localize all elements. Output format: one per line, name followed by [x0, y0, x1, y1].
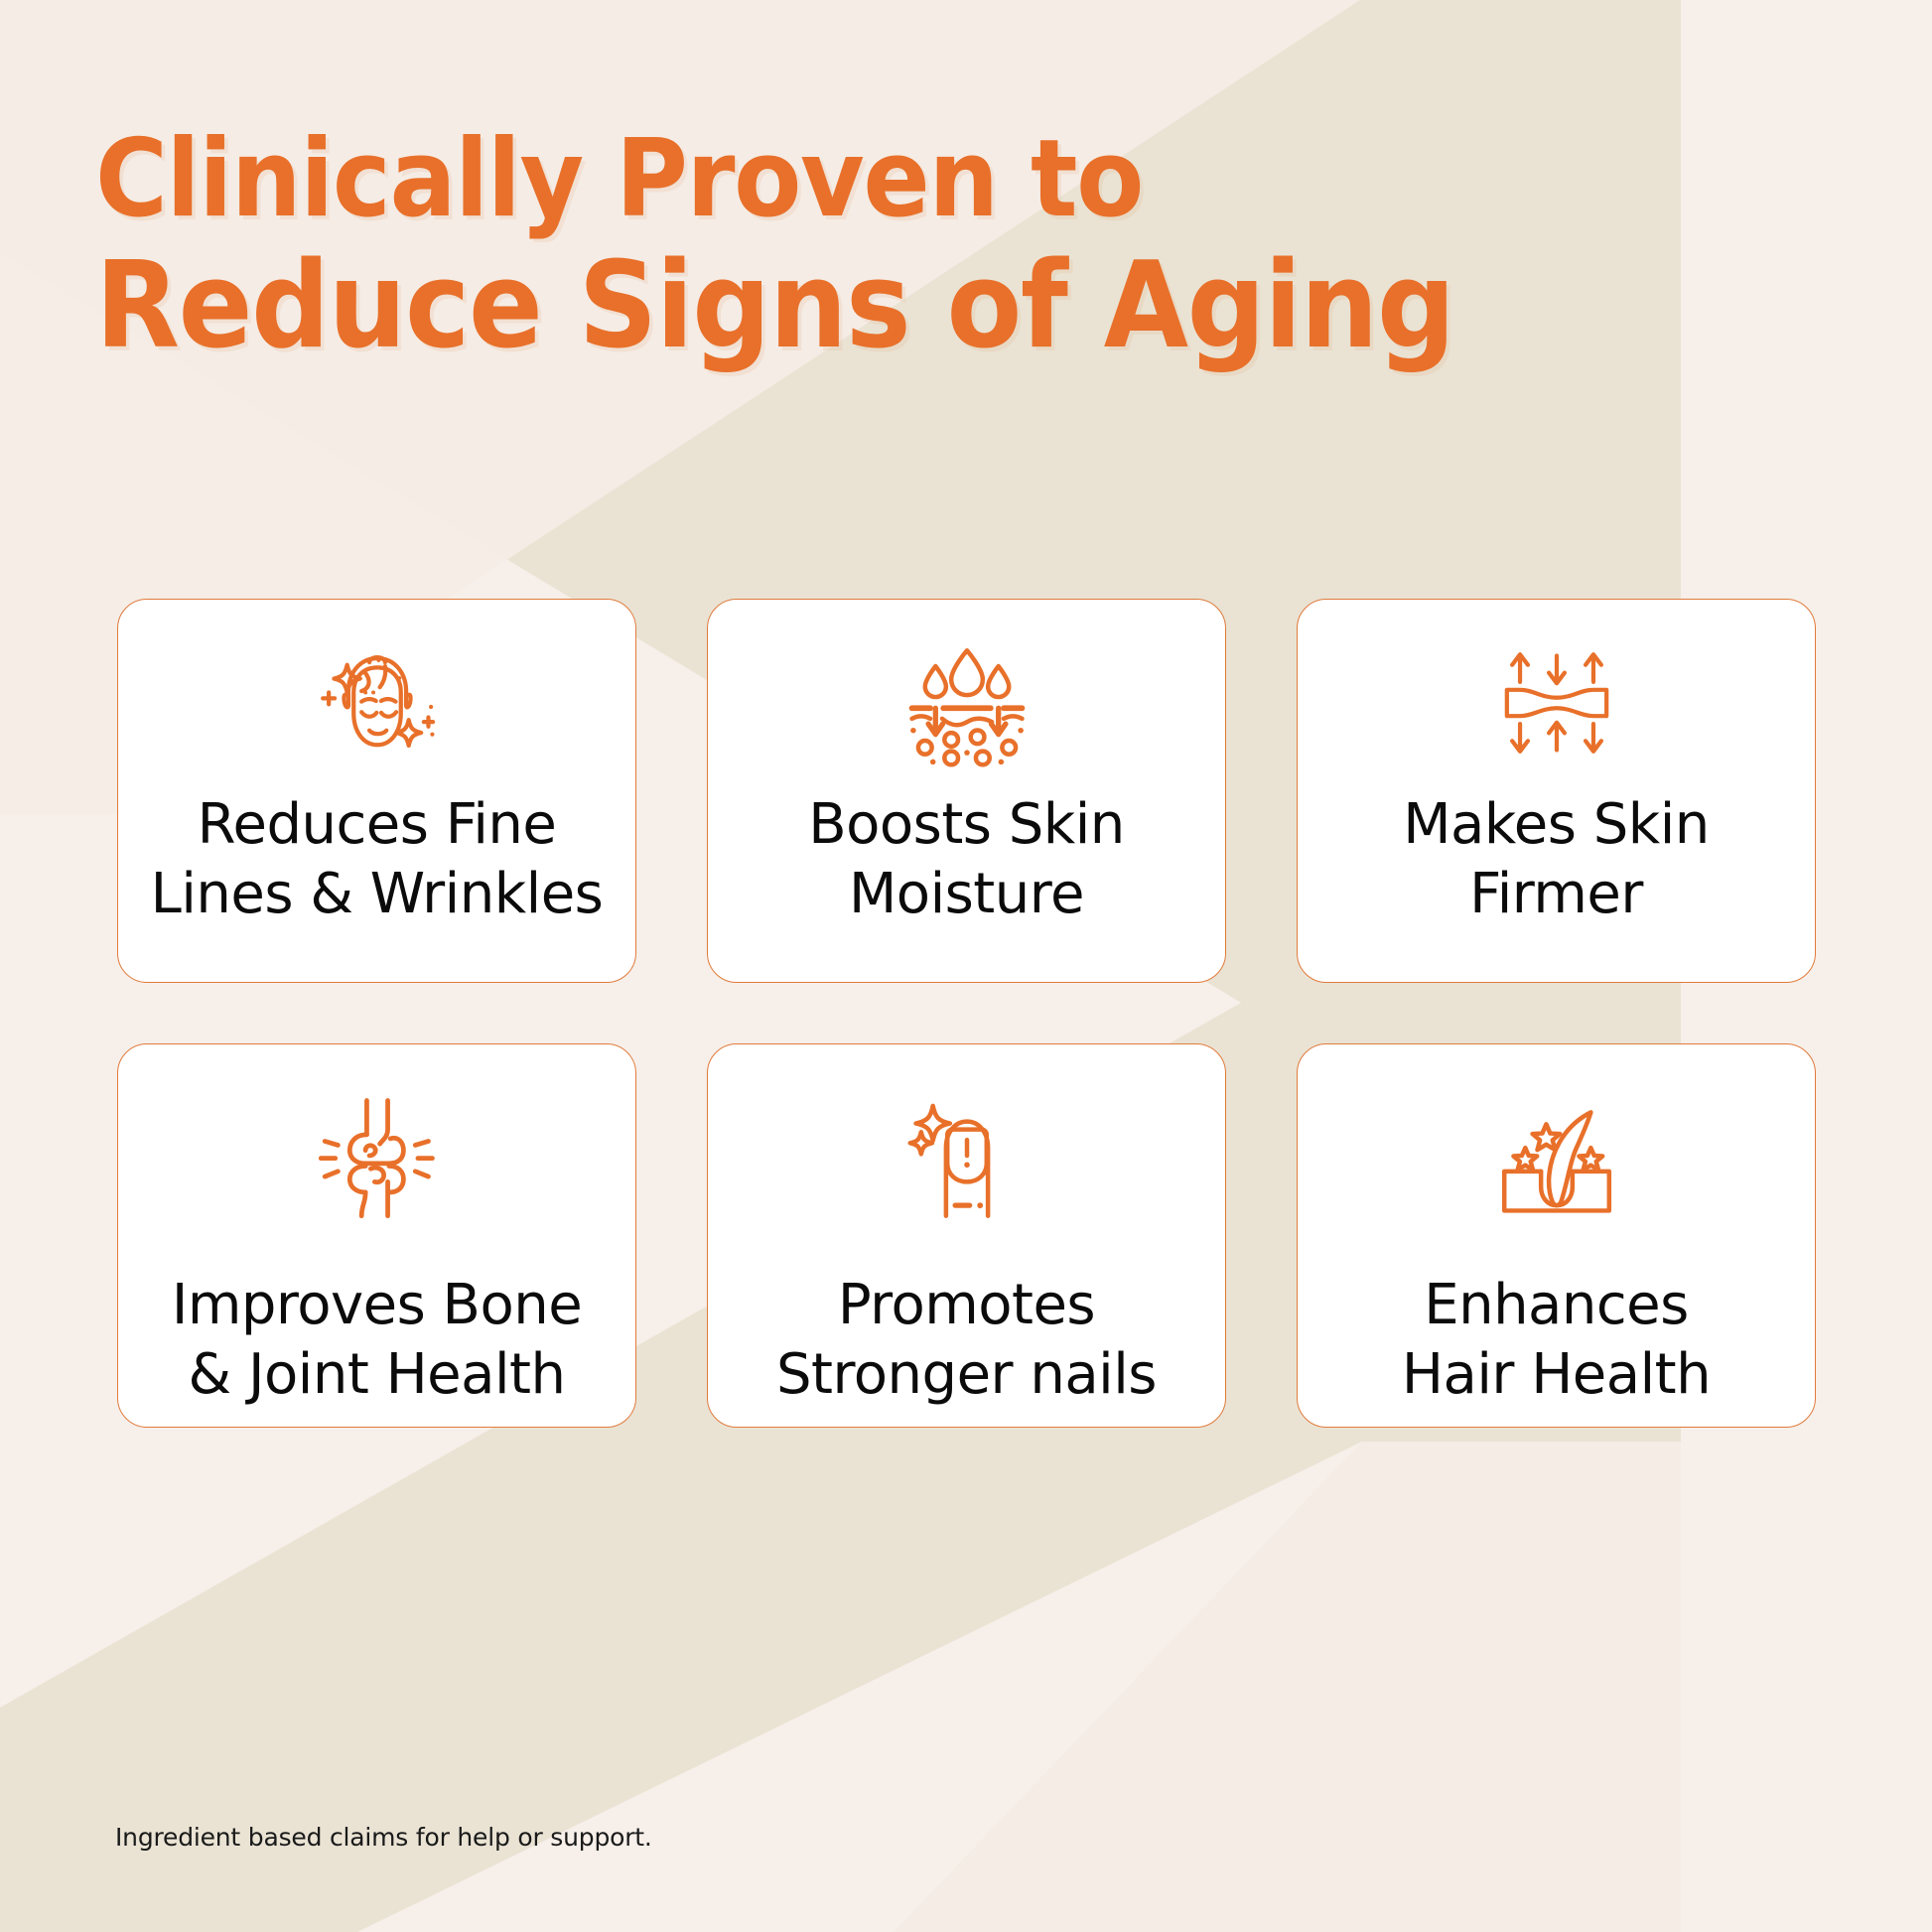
hair-follicle-icon [1491, 1090, 1622, 1221]
title-line-1: Clinically Proven to [95, 121, 1454, 238]
page-title: Clinically Proven to Reduce Signs of Agi… [95, 121, 1573, 371]
footnote-disclaimer: Ingredient based claims for help or supp… [115, 1823, 652, 1852]
benefit-card-label: Boosts Skin Moisture [786, 790, 1147, 929]
benefit-card-label: Reduces Fine Lines & Wrinkles [129, 790, 625, 929]
benefit-card-grid: Reduces Fine Lines & Wrinkles [117, 599, 1817, 1428]
knee-joint-icon [312, 1090, 443, 1221]
benefit-card-makes-skin-firmer[interactable]: Makes Skin Firmer [1297, 599, 1816, 983]
benefit-card-label: Improves Bone & Joint Health [150, 1271, 604, 1410]
title-line-2: Reduce Signs of Aging [95, 242, 1454, 371]
benefit-card-label: Enhances Hair Health [1380, 1271, 1732, 1410]
benefit-card-reduces-fine-lines[interactable]: Reduces Fine Lines & Wrinkles [117, 599, 636, 983]
fingernail-sparkle-icon [901, 1090, 1033, 1221]
benefit-card-label: Makes Skin Firmer [1381, 790, 1731, 929]
poster-canvas: Clinically Proven to Reduce Signs of Agi… [0, 0, 1932, 1932]
benefit-card-bone-joint-health[interactable]: Improves Bone & Joint Health [117, 1043, 636, 1428]
benefit-card-stronger-nails[interactable]: Promotes Stronger nails [707, 1043, 1226, 1428]
skin-firming-arrows-icon [1491, 637, 1622, 768]
benefit-card-label: Promotes Stronger nails [755, 1271, 1178, 1410]
face-sparkle-icon [312, 637, 443, 768]
benefit-card-hair-health[interactable]: Enhances Hair Health [1297, 1043, 1816, 1428]
benefit-card-boosts-moisture[interactable]: Boosts Skin Moisture [707, 599, 1226, 983]
water-droplets-skin-icon [901, 637, 1033, 768]
